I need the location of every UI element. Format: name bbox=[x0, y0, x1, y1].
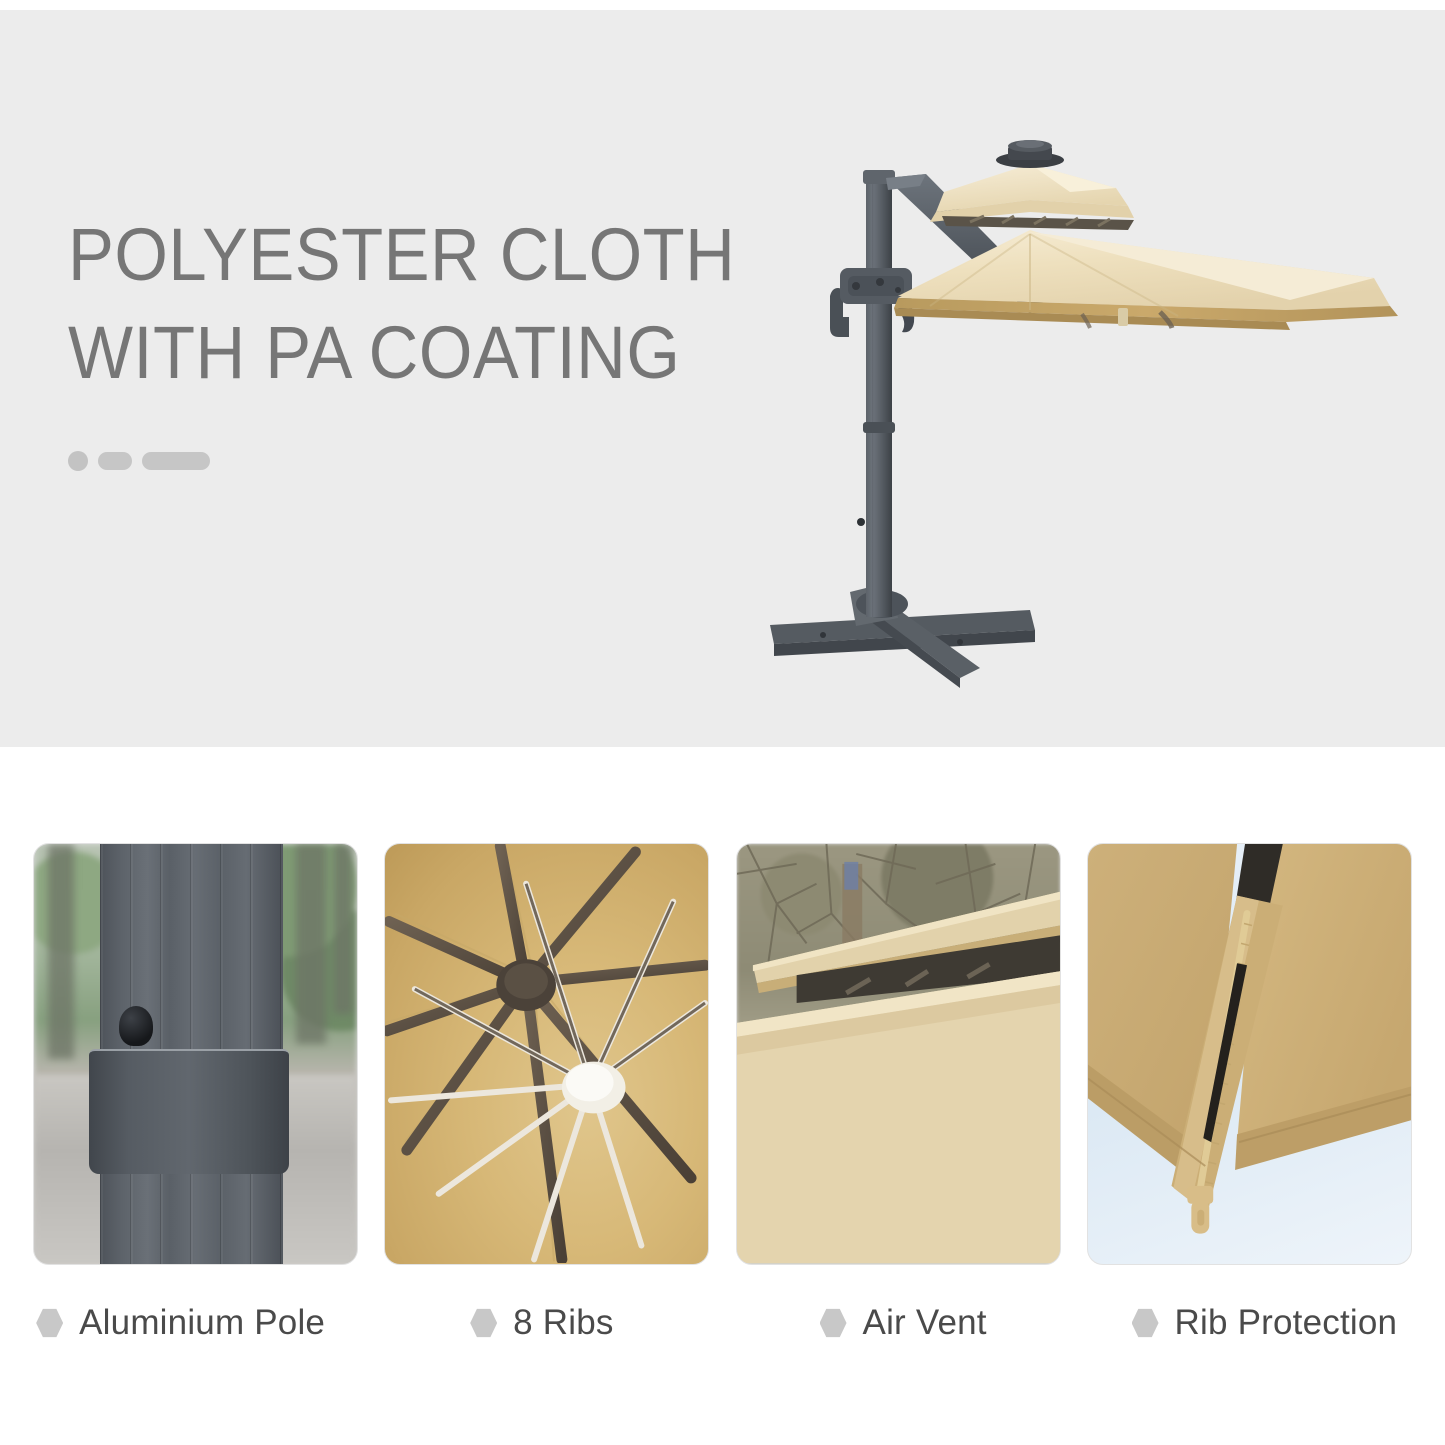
hexagon-icon bbox=[36, 1308, 63, 1338]
hexagon-icon bbox=[470, 1308, 497, 1338]
aluminium-pole-photo bbox=[34, 844, 357, 1264]
feature-label-8-ribs: 8 Ribs bbox=[361, 1288, 722, 1358]
air-vent-photo bbox=[737, 844, 1060, 1264]
page-title: POLYESTER CLOTH WITH PA COATING bbox=[68, 206, 775, 403]
feature-thumbnail-rib-protection[interactable] bbox=[1087, 843, 1412, 1265]
umbrella-solar-finial bbox=[996, 140, 1064, 168]
feature-thumbnail-air-vent[interactable] bbox=[736, 843, 1061, 1265]
cantilever-patio-umbrella-image bbox=[730, 130, 1410, 710]
umbrella-mast bbox=[857, 170, 895, 617]
hexagon-icon bbox=[1132, 1308, 1159, 1338]
feature-label-text: Aluminium Pole bbox=[79, 1303, 325, 1343]
feature-label-aluminium-pole: Aluminium Pole bbox=[0, 1288, 361, 1358]
feature-label-air-vent: Air Vent bbox=[723, 1288, 1084, 1358]
hero-panel: POLYESTER CLOTH WITH PA COATING bbox=[0, 10, 1445, 747]
feature-label-rib-protection: Rib Protection bbox=[1084, 1288, 1445, 1358]
hexagon-icon bbox=[820, 1308, 847, 1338]
rib-protection-photo bbox=[1088, 844, 1411, 1264]
decorative-separator bbox=[68, 451, 210, 471]
feature-thumbnail-8-ribs[interactable] bbox=[384, 843, 709, 1265]
feature-label-text: Rib Protection bbox=[1175, 1303, 1398, 1343]
eight-ribs-photo bbox=[385, 844, 708, 1264]
feature-label-row: Aluminium Pole 8 Ribs Air Vent Rib Prote… bbox=[0, 1288, 1445, 1358]
decoration-pill-large bbox=[142, 452, 210, 470]
infographic-page: POLYESTER CLOTH WITH PA COATING bbox=[0, 0, 1445, 1445]
feature-thumbnail-aluminium-pole[interactable] bbox=[33, 843, 358, 1265]
feature-thumbnail-row bbox=[0, 843, 1445, 1265]
umbrella-upper-canopy bbox=[930, 164, 1134, 230]
feature-label-text: 8 Ribs bbox=[513, 1303, 613, 1343]
decoration-pill-small bbox=[98, 452, 132, 470]
decoration-dot bbox=[68, 451, 88, 471]
umbrella-base bbox=[770, 582, 1035, 688]
feature-label-text: Air Vent bbox=[863, 1303, 987, 1343]
